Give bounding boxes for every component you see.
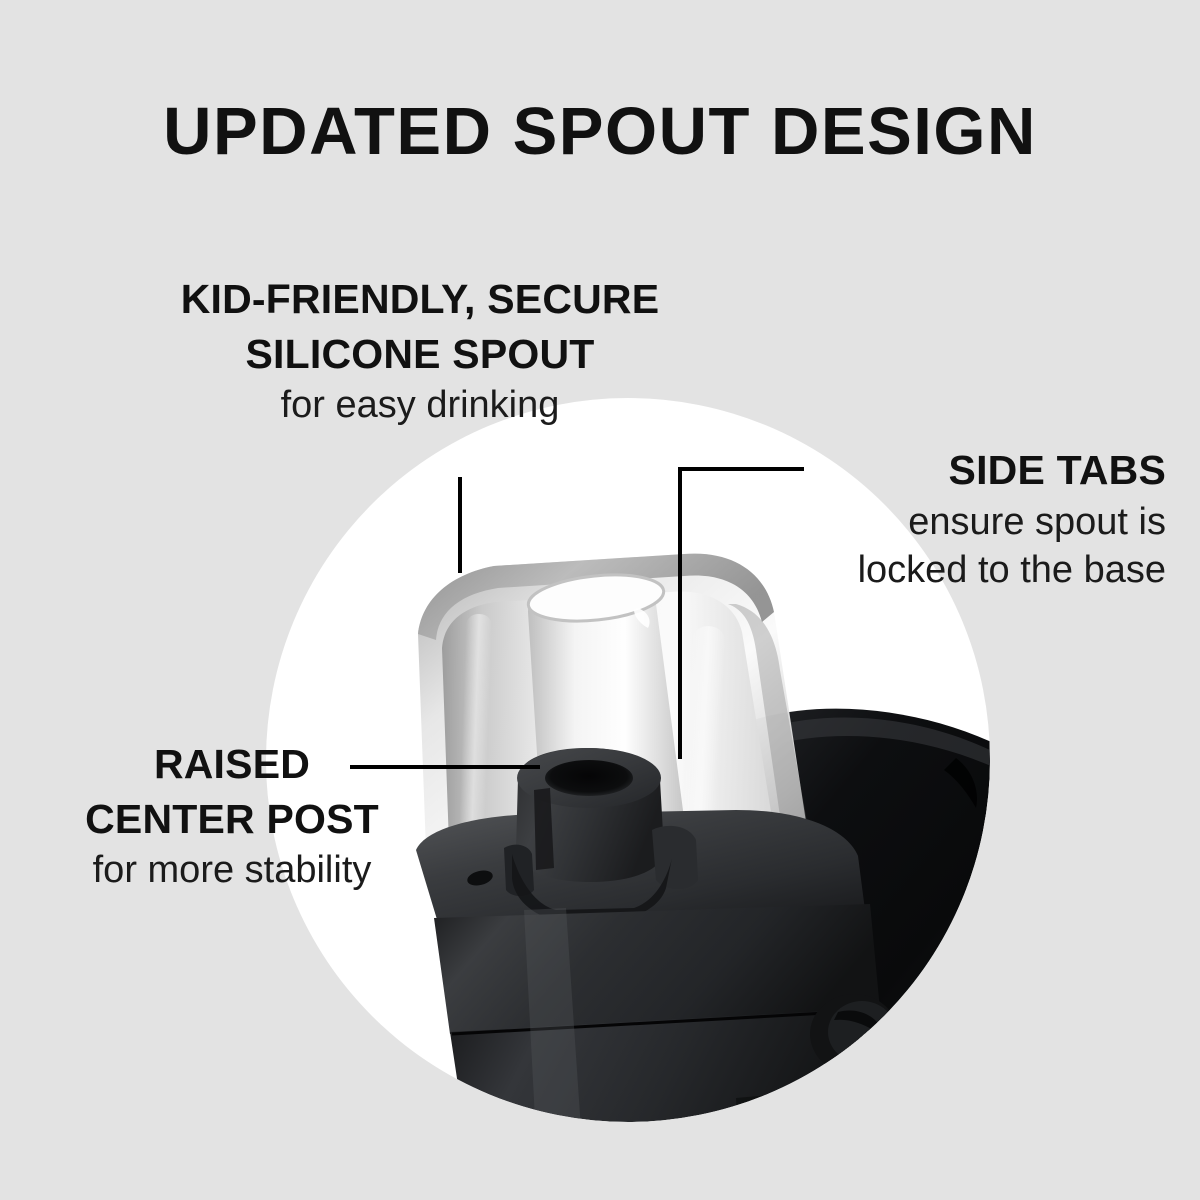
- lid-side-button: [810, 994, 898, 1074]
- callout-silicone-spout-head-line1: KID-FRIENDLY, SECURE: [100, 272, 740, 327]
- callout-center-post-sub: for more stability: [30, 846, 434, 895]
- callout-center-post-head-line1: RAISED: [154, 737, 310, 792]
- callout-silicone-spout: KID-FRIENDLY, SECURE SILICONE SPOUT for …: [100, 272, 740, 430]
- leader-line-side-tabs-vertical: [678, 467, 682, 759]
- center-post-bore: [545, 760, 633, 796]
- callout-center-post-head-line2: CENTER POST: [30, 792, 434, 847]
- side-tab-right: [652, 826, 698, 889]
- callout-side-tabs-sub-line2: locked to the base: [736, 546, 1166, 595]
- page-title: UPDATED SPOUT DESIGN: [0, 98, 1200, 165]
- callout-center-post: RAISED CENTER POST for more stability: [30, 737, 434, 895]
- infographic-canvas: UPDATED SPOUT DESIGN: [0, 0, 1200, 1200]
- leader-line-silicone-spout: [458, 477, 462, 573]
- callout-silicone-spout-head-line2: SILICONE SPOUT: [100, 327, 740, 382]
- callout-side-tabs: SIDE TABS ensure spout is locked to the …: [736, 443, 1166, 595]
- callout-silicone-spout-sub: for easy drinking: [100, 381, 740, 430]
- callout-side-tabs-head: SIDE TABS: [949, 443, 1166, 498]
- callout-side-tabs-sub-line1: ensure spout is: [736, 498, 1166, 547]
